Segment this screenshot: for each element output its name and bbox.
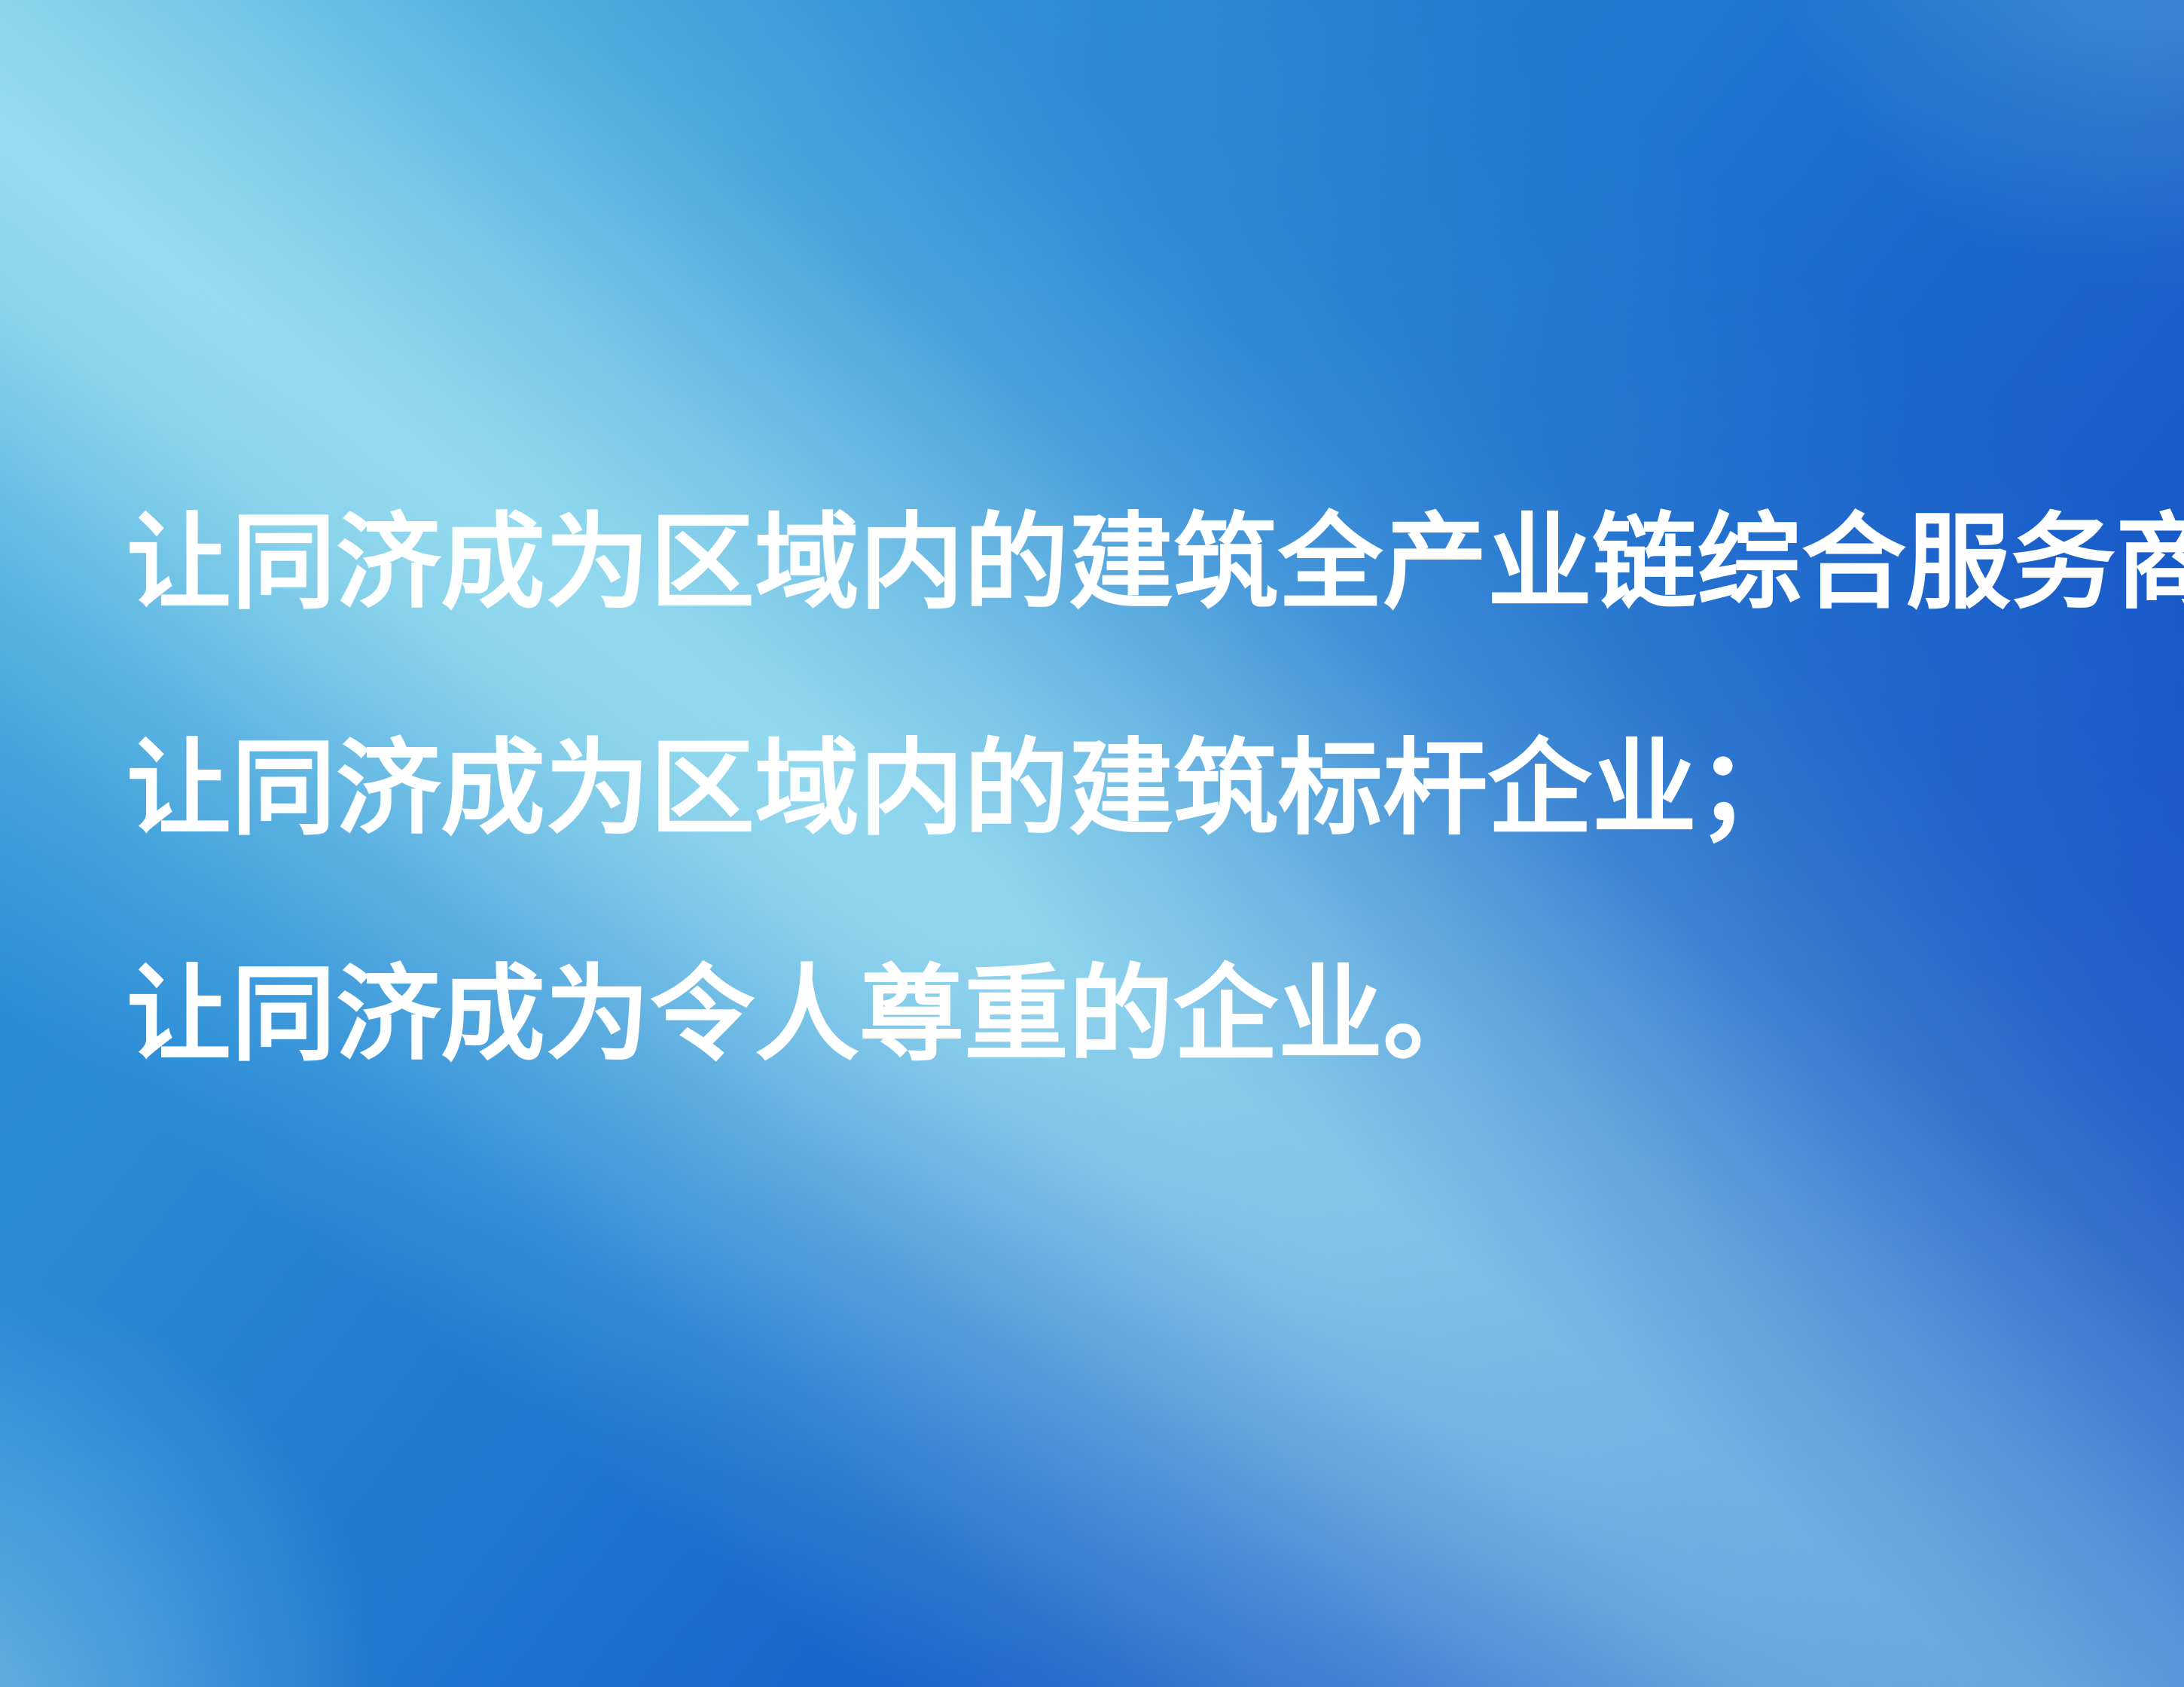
presentation-slide: 让同济成为区域内的建筑全产业链综合服务商； 让同济成为区域内的建筑标杆企业； 让…	[0, 0, 2184, 1687]
slide-text-line-3: 让同济成为令人尊重的企业。	[127, 901, 2100, 1127]
slide-text-line-2: 让同济成为区域内的建筑标杆企业；	[127, 675, 2100, 901]
slide-text-line-1: 让同济成为区域内的建筑全产业链综合服务商；	[127, 449, 2100, 675]
slide-text-block: 让同济成为区域内的建筑全产业链综合服务商； 让同济成为区域内的建筑标杆企业； 让…	[127, 449, 2100, 1127]
